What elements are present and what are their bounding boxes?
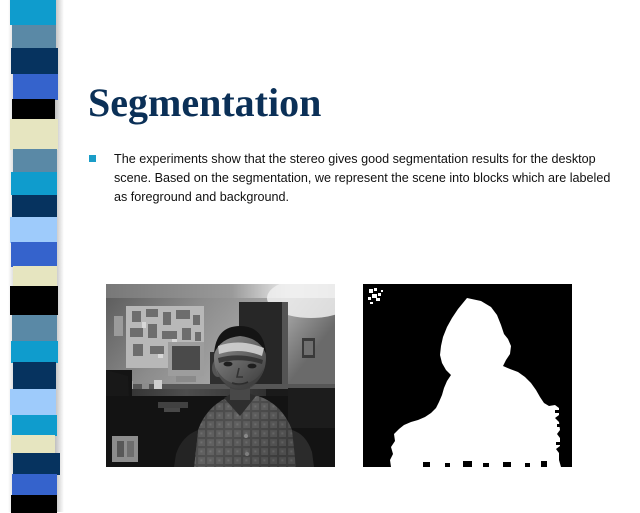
desktop-scene-photo-graphic (106, 284, 335, 467)
sidebar-band-slate-blue (12, 25, 56, 49)
sidebar-band-navy (11, 48, 58, 74)
bullet-item: The experiments show that the stereo giv… (88, 150, 616, 207)
sidebar-band-royal-blue (11, 242, 57, 267)
sidebar-band-black (11, 495, 57, 513)
sidebar-band-light-blue (10, 217, 57, 242)
sidebar-band-slate-blue (13, 149, 57, 172)
sidebar-band-black (12, 99, 55, 120)
segmentation-mask (363, 284, 572, 467)
segmentation-mask-graphic (363, 284, 572, 467)
sidebar-band-cyan (10, 0, 56, 25)
sidebar-band-navy (12, 195, 57, 218)
slide-title: Segmentation (88, 79, 608, 127)
sidebar-band-royal-blue (13, 74, 58, 100)
slide-body: The experiments show that the stereo giv… (88, 150, 616, 207)
bullet-text: The experiments show that the stereo giv… (114, 152, 610, 204)
figure-row (0, 284, 640, 470)
square-bullet-icon (89, 155, 96, 162)
slide-canvas: Segmentation The experiments show that t… (0, 0, 640, 512)
sidebar-band-royal-blue (12, 474, 57, 496)
sidebar-band-cream (10, 119, 58, 150)
sidebar-band-cyan (11, 172, 57, 195)
desktop-scene-photo (106, 284, 335, 467)
